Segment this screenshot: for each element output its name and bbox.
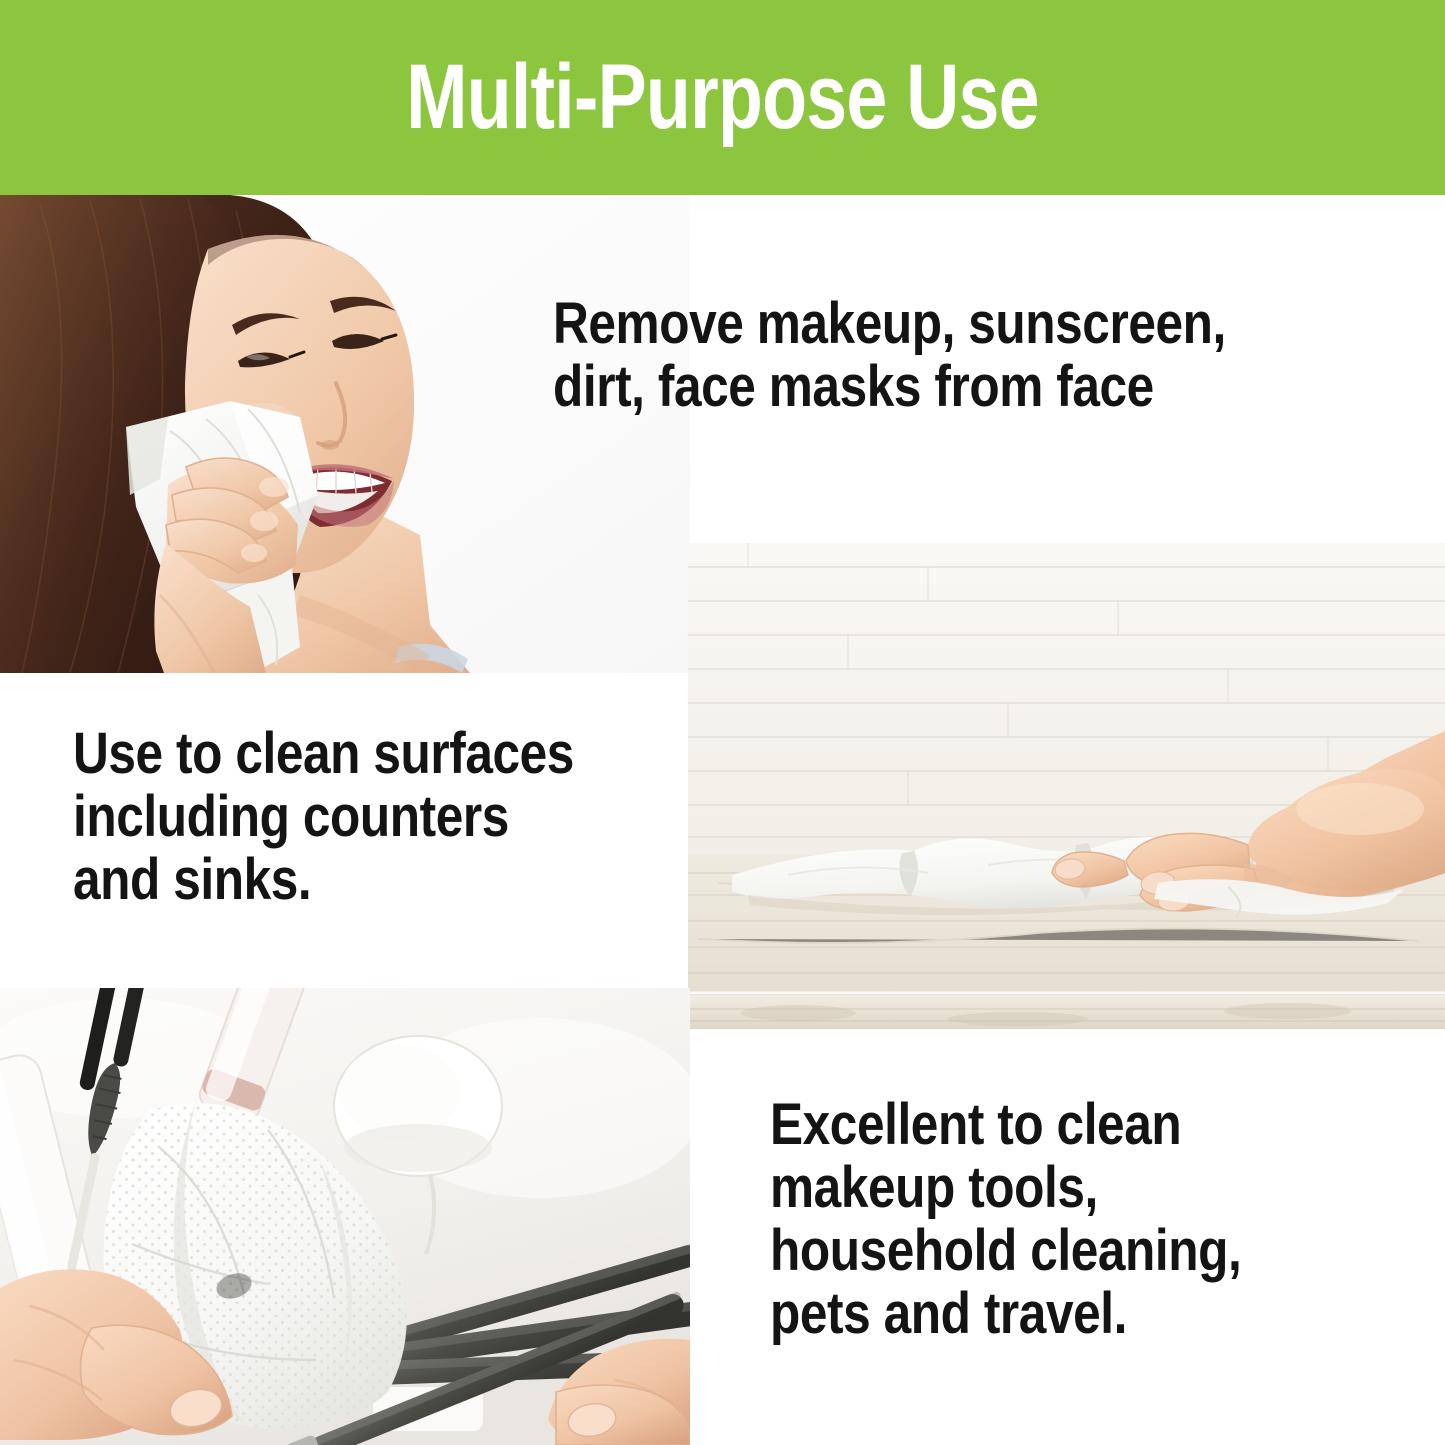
brushes-illustration xyxy=(0,988,690,1445)
photo-clean-counter xyxy=(688,543,1445,1029)
counter-illustration xyxy=(688,543,1445,1029)
face-illustration xyxy=(0,195,690,673)
caption-clean-makeup-tools: Excellent to clean makeup tools, househo… xyxy=(770,1093,1445,1345)
page-title: Multi-Purpose Use xyxy=(145,47,1301,147)
photo-clean-makeup-tools xyxy=(0,988,690,1445)
photo-remove-makeup-face xyxy=(0,195,690,673)
caption-clean-surfaces: Use to clean surfaces including counters… xyxy=(73,722,723,911)
header-banner: Multi-Purpose Use xyxy=(0,0,1445,195)
infographic-root: Multi-Purpose Use xyxy=(0,0,1445,1445)
caption-remove-makeup: Remove makeup, sunscreen, dirt, face mas… xyxy=(553,292,1408,418)
